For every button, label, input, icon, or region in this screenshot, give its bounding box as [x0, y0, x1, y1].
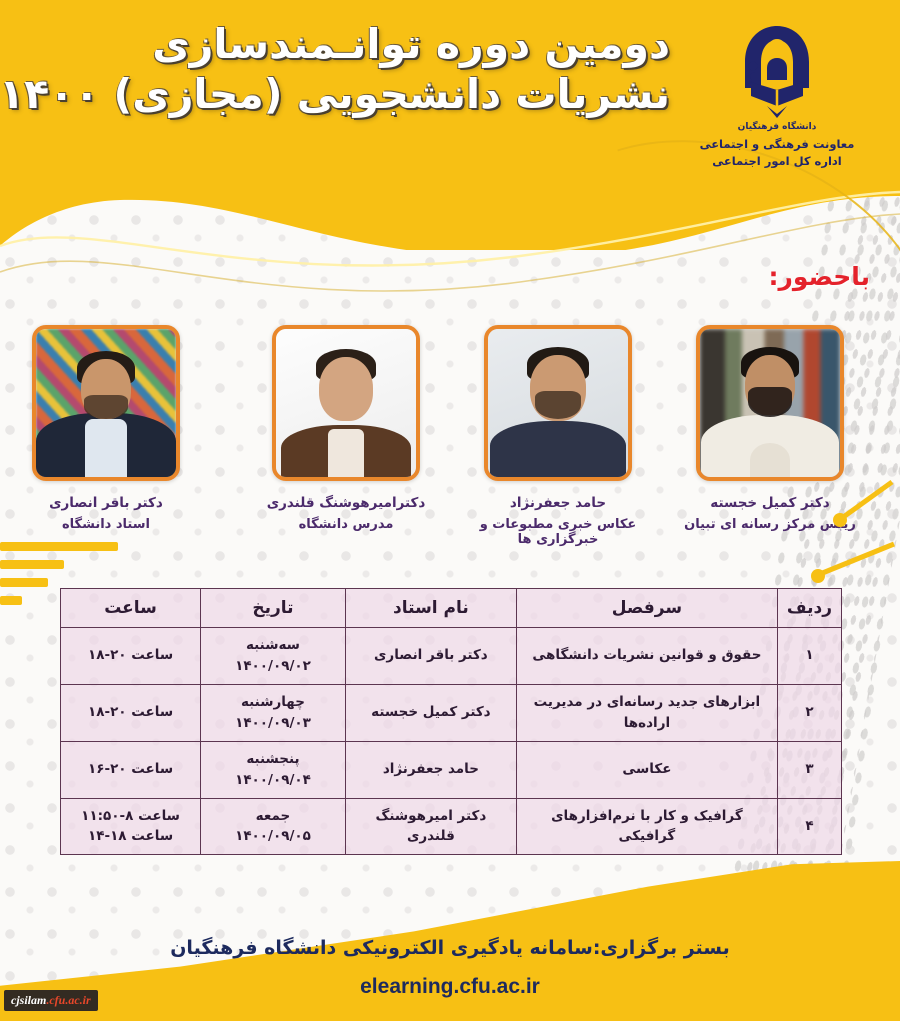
decorative-bar: [0, 542, 118, 551]
farhangian-university-emblem-icon: [731, 18, 823, 122]
site-watermark: cjsilam.cfu.ac.ir: [4, 990, 98, 1011]
cell-saat-line1: ساعت ۲۰-۱۸: [67, 702, 194, 723]
speaker-card: دکترامیرهوشنگ قلندری مدرس دانشگاه: [240, 325, 452, 555]
cell-tarikh-date: ۱۴۰۰/۰۹/۰۳: [207, 713, 339, 734]
speaker-photo: [696, 325, 844, 481]
table-row: ۲ ابزارهای جدید رسانه‌ای در مدیریت اراده…: [61, 684, 842, 741]
schedule-table: ردیف سرفصل نام استاد تاریخ ساعت ۱ حقوق و…: [60, 588, 842, 855]
cell-sarfasl: حقوق و قوانین نشریات دانشگاهی: [516, 628, 777, 685]
cell-saat-line1: ساعت ۲۰-۱۶: [67, 759, 194, 780]
poster-title-line2: نشریات دانشجویی (مجازی) ۱۴۰۰: [70, 72, 670, 118]
cell-saat: ساعت ۲۰-۱۸: [61, 684, 201, 741]
cell-saat-line1: ساعت ۸-۱۱:۵۰: [67, 806, 194, 827]
footer-platform-text: بستر برگزاری:سامانه یادگیری الکترونیکی د…: [0, 937, 900, 959]
cell-sarfasl: گرافیک و کار با نرم‌افزارهای گرافیکی: [516, 798, 777, 855]
cell-tarikh-date: ۱۴۰۰/۰۹/۰۲: [207, 656, 339, 677]
cell-radif: ۱: [777, 628, 841, 685]
presence-label: باحضور:: [769, 262, 871, 291]
speaker-role: مدرس دانشگاه: [240, 517, 452, 532]
decorative-bar: [0, 596, 22, 605]
cell-saat: ساعت ۸-۱۱:۵۰ ساعت ۱۸-۱۴: [61, 798, 201, 855]
column-header-sarfasl: سرفصل: [516, 589, 777, 628]
logo-department-line1: معاونت فرهنگی و اجتماعی: [682, 136, 872, 153]
table-row: ۴ گرافیک و کار با نرم‌افزارهای گرافیکی د…: [61, 798, 842, 855]
speakers-row: دکتر باقر انصاری استاد دانشگاه دکترامیره…: [0, 325, 900, 555]
poster-title: دومین دوره توانـمندسازی نشریات دانشجویی …: [70, 22, 670, 118]
table-header-row: ردیف سرفصل نام استاد تاریخ ساعت: [61, 589, 842, 628]
cell-saat: ساعت ۲۰-۱۶: [61, 741, 201, 798]
cell-sarfasl: ابزارهای جدید رسانه‌ای در مدیریت اراده‌ه…: [516, 684, 777, 741]
cell-tarikh-date: ۱۴۰۰/۰۹/۰۴: [207, 770, 339, 791]
cell-tarikh-day: سه‌شنبه: [207, 635, 339, 656]
logo-university-name: دانشگاه فرهنگیان: [682, 122, 872, 132]
watermark-name: cjsilam: [11, 993, 46, 1007]
poster-title-line1: دومین دوره توانـمندسازی: [70, 22, 670, 68]
speaker-card: دکتر باقر انصاری استاد دانشگاه: [0, 325, 212, 555]
speaker-card: حامد جعفرنژاد عکاس خبری مطبوعات و خبرگزا…: [452, 325, 664, 555]
cell-tarikh-day: چهارشنبه: [207, 692, 339, 713]
cell-tarikh: پنجشنبه ۱۴۰۰/۰۹/۰۴: [201, 741, 346, 798]
decorative-bar: [0, 578, 48, 587]
column-header-tarikh: تاریخ: [201, 589, 346, 628]
cell-radif: ۴: [777, 798, 841, 855]
decorative-node-lines: [790, 470, 900, 600]
footer-url-link[interactable]: elearning.cfu.ac.ir: [0, 975, 900, 999]
cell-tarikh: سه‌شنبه ۱۴۰۰/۰۹/۰۲: [201, 628, 346, 685]
cell-tarikh: چهارشنبه ۱۴۰۰/۰۹/۰۳: [201, 684, 346, 741]
cell-tarikh-day: جمعه: [207, 806, 339, 827]
cell-tarikh-date: ۱۴۰۰/۰۹/۰۵: [207, 826, 339, 847]
speaker-name: حامد جعفرنژاد: [452, 495, 664, 511]
speaker-photo: [484, 325, 632, 481]
speaker-name: دکتر باقر انصاری: [0, 495, 212, 511]
poster-root: دانشگاه فرهنگیان معاونت فرهنگی و اجتماعی…: [0, 0, 900, 1021]
cell-sarfasl: عکاسی: [516, 741, 777, 798]
cell-ostad: دکتر باقر انصاری: [345, 628, 516, 685]
cell-ostad: حامد جعفرنژاد: [345, 741, 516, 798]
watermark-domain: .cfu.ac.ir: [46, 993, 90, 1007]
schedule-table-wrapper: ردیف سرفصل نام استاد تاریخ ساعت ۱ حقوق و…: [60, 588, 842, 855]
table-row: ۱ حقوق و قوانین نشریات دانشگاهی دکتر باق…: [61, 628, 842, 685]
organization-logo: دانشگاه فرهنگیان معاونت فرهنگی و اجتماعی…: [682, 18, 872, 171]
column-header-saat: ساعت: [61, 589, 201, 628]
cell-radif: ۲: [777, 684, 841, 741]
speaker-role: عکاس خبری مطبوعات و خبرگزاری ها: [452, 517, 664, 547]
cell-saat: ساعت ۲۰-۱۸: [61, 628, 201, 685]
cell-tarikh: جمعه ۱۴۰۰/۰۹/۰۵: [201, 798, 346, 855]
table-row: ۳ عکاسی حامد جعفرنژاد پنجشنبه ۱۴۰۰/۰۹/۰۴…: [61, 741, 842, 798]
cell-saat-line2: ساعت ۱۸-۱۴: [67, 826, 194, 847]
cell-ostad: دکتر کمیل خجسته: [345, 684, 516, 741]
cell-saat-line1: ساعت ۲۰-۱۸: [67, 645, 194, 666]
speaker-name: دکترامیرهوشنگ قلندری: [240, 495, 452, 511]
speaker-photo: [272, 325, 420, 481]
column-header-radif: ردیف: [777, 589, 841, 628]
cell-tarikh-day: پنجشنبه: [207, 749, 339, 770]
logo-department-line2: اداره کل امور اجتماعی: [682, 153, 872, 170]
cell-radif: ۳: [777, 741, 841, 798]
speaker-role: استاد دانشگاه: [0, 517, 212, 532]
cell-ostad: دکتر امیرهوشنگ قلندری: [345, 798, 516, 855]
decorative-bar: [0, 560, 64, 569]
column-header-ostad: نام استاد: [345, 589, 516, 628]
speaker-photo: [32, 325, 180, 481]
